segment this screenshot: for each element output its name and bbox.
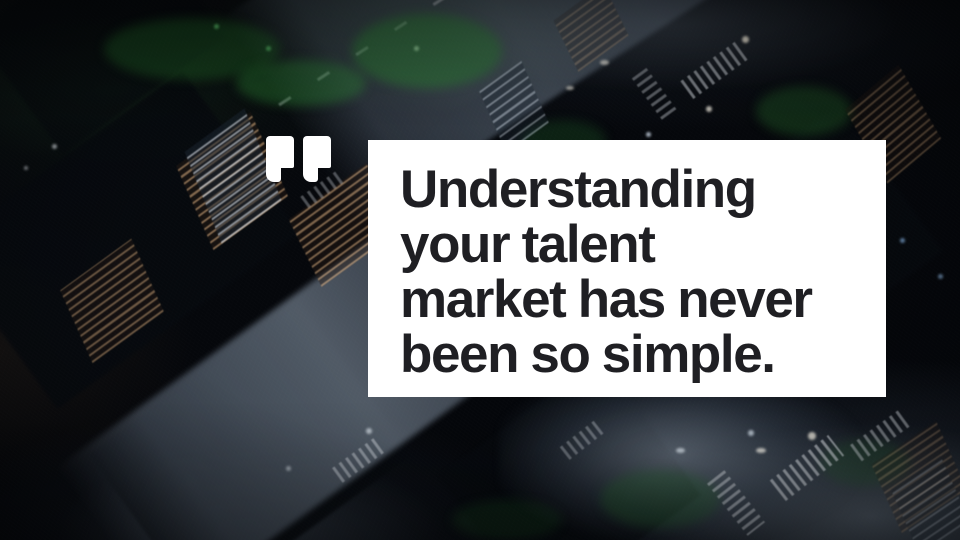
quote-panel: Understanding your talent market has nev… <box>368 140 886 397</box>
street-light <box>938 274 943 279</box>
street-light <box>646 132 651 137</box>
street-light <box>900 238 905 243</box>
street-light <box>52 144 57 149</box>
street-light <box>286 466 291 471</box>
street-light <box>748 430 754 436</box>
street-light <box>742 36 749 43</box>
building-window-light <box>214 24 219 29</box>
building-window-light <box>266 46 271 51</box>
street-light <box>414 46 419 51</box>
tree-canopy <box>236 60 366 106</box>
vehicle-light <box>676 448 685 453</box>
vehicle-light <box>566 86 574 90</box>
quote-slide: Understanding your talent market has nev… <box>0 0 960 540</box>
street-light <box>706 106 712 112</box>
quote-text: Understanding your talent market has nev… <box>400 162 812 382</box>
street-light <box>808 432 816 440</box>
tree-canopy <box>452 500 562 540</box>
tree-canopy <box>600 470 720 528</box>
vehicle-light <box>756 448 766 453</box>
tree-canopy <box>756 86 852 136</box>
quote-glyph-right <box>303 136 331 182</box>
quote-glyph-left <box>266 136 294 182</box>
street-light <box>24 166 28 170</box>
street-light <box>366 428 372 434</box>
tree-canopy <box>352 14 502 88</box>
vehicle-light <box>600 60 609 65</box>
open-quote-icon <box>266 136 332 182</box>
